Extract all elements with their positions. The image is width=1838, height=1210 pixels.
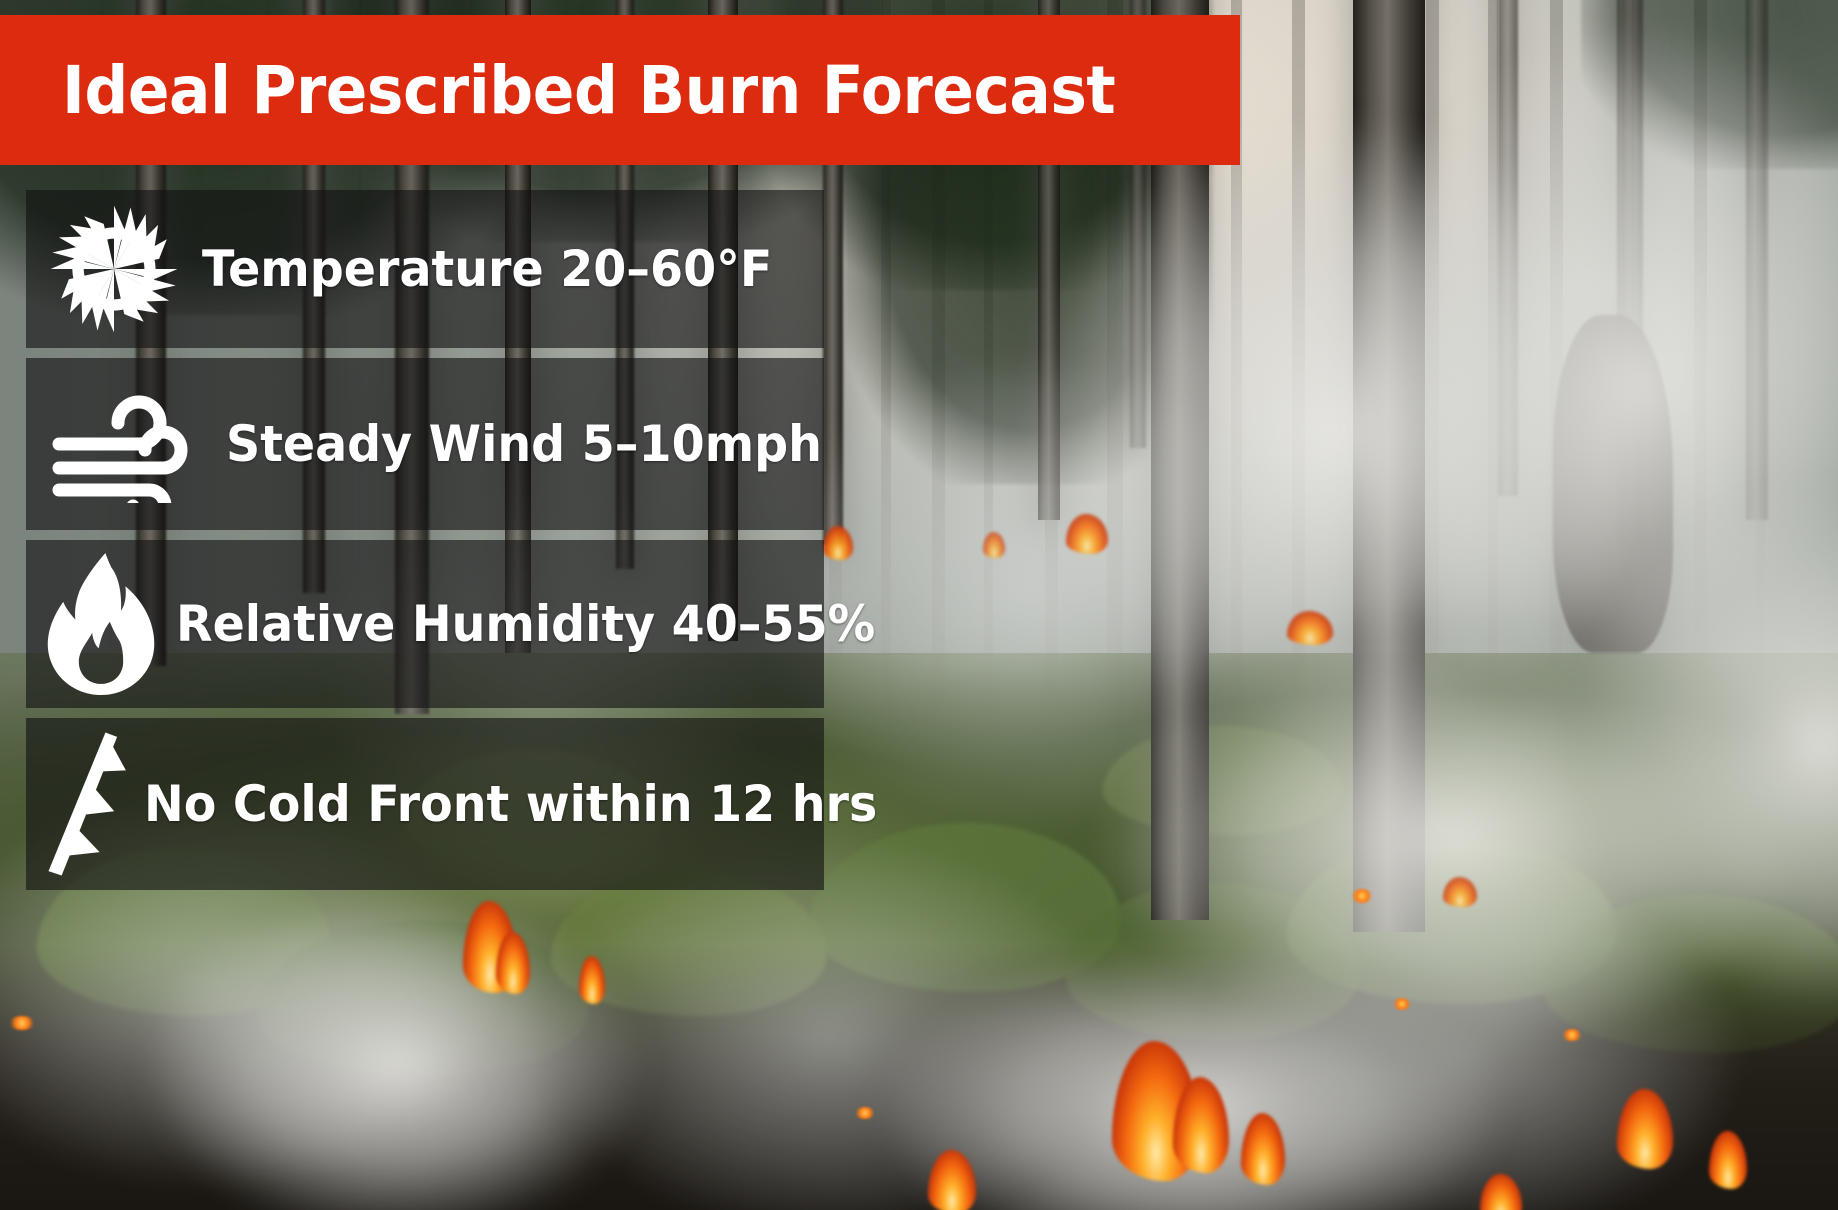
criteria-list: Temperature 20–60°F Steady Wind 5–10mph bbox=[26, 190, 938, 900]
ember bbox=[855, 1107, 875, 1119]
sun-icon bbox=[26, 203, 202, 335]
ground-flame bbox=[1443, 877, 1477, 907]
criterion-row-cold-front: No Cold Front within 12 hrs bbox=[26, 718, 824, 890]
cold-front-icon bbox=[26, 731, 144, 877]
flame-icon bbox=[26, 553, 176, 695]
wind-icon bbox=[26, 385, 226, 503]
criterion-row-wind: Steady Wind 5–10mph bbox=[26, 358, 824, 530]
infographic-poster: Ideal Prescribed Burn Forecast bbox=[0, 0, 1838, 1210]
ember bbox=[1562, 1029, 1582, 1041]
page-title: Ideal Prescribed Burn Forecast bbox=[62, 52, 1115, 129]
criterion-label-wind: Steady Wind 5–10mph bbox=[226, 415, 822, 473]
criterion-label-cold-front: No Cold Front within 12 hrs bbox=[144, 775, 877, 833]
title-banner: Ideal Prescribed Burn Forecast bbox=[0, 15, 1240, 165]
criterion-row-humidity: Relative Humidity 40–55% bbox=[26, 540, 824, 708]
criterion-row-temperature: Temperature 20–60°F bbox=[26, 190, 824, 348]
criterion-label-temperature: Temperature 20–60°F bbox=[202, 240, 772, 298]
criterion-label-humidity: Relative Humidity 40–55% bbox=[176, 595, 875, 653]
